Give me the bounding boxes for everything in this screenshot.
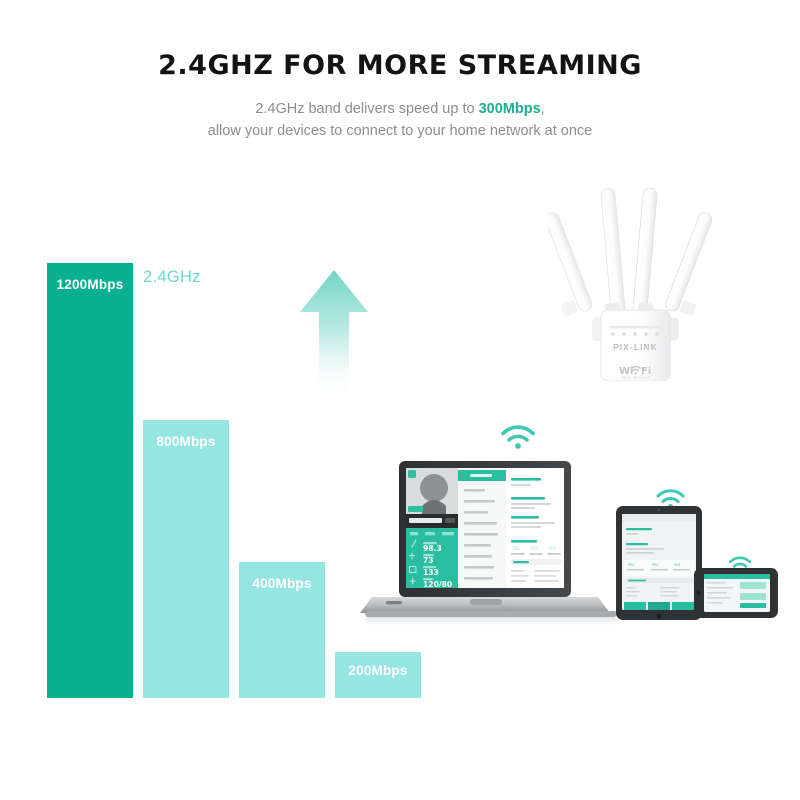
tablet-device: YES YES YES	[616, 506, 702, 620]
svg-text:YES: YES	[529, 546, 538, 551]
svg-text:YES: YES	[652, 563, 658, 567]
bar-label-400mbps: 400Mbps	[239, 576, 325, 591]
bar-200mbps: 200Mbps	[335, 652, 421, 698]
svg-text:YES: YES	[628, 563, 634, 567]
svg-text:120/80: 120/80	[423, 580, 452, 589]
svg-text:98.3: 98.3	[423, 544, 442, 553]
page-title: 2.4GHZ FOR MORE STREAMING	[0, 50, 800, 81]
bar-1200mbps: 1200Mbps	[47, 263, 133, 698]
svg-text:YES: YES	[547, 546, 556, 551]
page-subtitle: 2.4GHz band delivers speed up to 300Mbps…	[0, 98, 800, 142]
router-model-label: Mini Router	[548, 375, 723, 380]
subtitle-pre-text: 2.4GHz band delivers speed up to	[255, 101, 478, 117]
device-group: 98.3 73 133 120/80	[360, 450, 800, 640]
antenna-outer-left	[548, 211, 594, 317]
svg-text:YES: YES	[674, 563, 680, 567]
laptop-device: 98.3 73 133 120/80	[360, 461, 617, 629]
svg-text:YES: YES	[511, 546, 520, 551]
band-label-2-4ghz: 2.4GHz	[143, 268, 201, 287]
infographic-canvas: 2.4GHZ FOR MORE STREAMING 2.4GHz band de…	[0, 0, 800, 800]
subtitle-line-1: 2.4GHz band delivers speed up to 300Mbps…	[0, 98, 800, 120]
bar-800mbps: 800Mbps	[143, 420, 229, 698]
subtitle-post-text: ,	[541, 101, 545, 117]
antenna-outer-right	[664, 211, 714, 317]
bar-label-800mbps: 800Mbps	[143, 434, 229, 449]
antenna-inner-left	[600, 188, 625, 318]
antenna-inner-right	[632, 188, 657, 318]
bar-400mbps: 400Mbps	[239, 562, 325, 698]
subtitle-highlight: 300Mbps	[479, 101, 541, 117]
router-brand-label: PIX-LINK	[548, 343, 723, 352]
router-device: PIX-LINK Wi Fi Mini Router	[548, 176, 723, 381]
phone-device	[694, 568, 778, 618]
svg-text:73: 73	[423, 556, 434, 565]
router-led-strip	[609, 326, 662, 328]
bar-label-1200mbps: 1200Mbps	[47, 277, 133, 292]
svg-text:133: 133	[423, 568, 439, 577]
subtitle-line-2: allow your devices to connect to your ho…	[0, 120, 800, 142]
up-arrow-icon	[297, 268, 371, 400]
bar-label-200mbps: 200Mbps	[335, 663, 421, 678]
